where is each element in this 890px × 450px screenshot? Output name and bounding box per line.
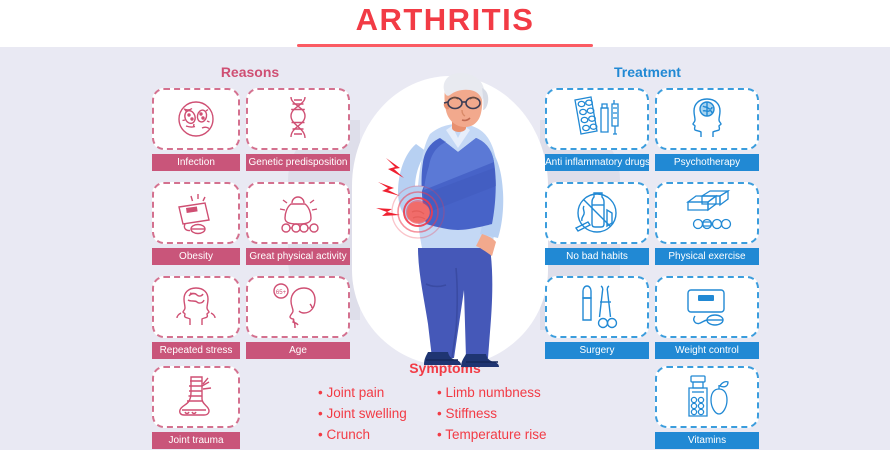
no-smoking-alcohol-icon (570, 188, 624, 238)
pain-spot (406, 200, 430, 224)
card-icon-frame (545, 182, 649, 244)
scalpel-scissors-icon (575, 282, 619, 332)
card-icon-frame (545, 88, 649, 150)
symptom-item: Joint pain (318, 382, 407, 403)
reason-card-great-physical-activity[interactable]: Great physical activity (246, 182, 350, 265)
reasons-heading: Reasons (145, 64, 355, 80)
card-label: Psychotherapy (655, 154, 759, 171)
card-icon-frame (246, 182, 350, 244)
title-underline (297, 44, 593, 47)
card-label: Anti inflammatory drugs (545, 154, 649, 171)
bacteria-icon (172, 95, 220, 143)
card-label: Infection (152, 154, 240, 171)
treatment-heading: Treatment (540, 64, 755, 80)
treatment-card-no-bad-habits[interactable]: No bad habits (545, 182, 649, 265)
reason-card-age[interactable]: 65+ Age (246, 276, 350, 359)
symptoms-column-right: Limb numbness Stiffness Temperature rise (437, 382, 547, 445)
scale-tape-icon (680, 284, 734, 330)
treatment-card-psychotherapy[interactable]: Psychotherapy (655, 88, 759, 171)
svg-text:65+: 65+ (276, 290, 287, 296)
head-brain-icon (683, 94, 731, 144)
symptom-item: Temperature rise (437, 424, 547, 445)
step-platform-dumbbell-icon (680, 190, 734, 236)
treatment-card-anti-inflammatory-drugs[interactable]: Anti inflammatory drugs (545, 88, 649, 171)
weight-scale-icon (171, 189, 221, 237)
pills-syringe-icon (568, 94, 626, 144)
card-label: Surgery (545, 342, 649, 359)
elderly-man-illustration (356, 72, 546, 372)
card-label: Great physical activity (246, 248, 350, 265)
kettlebell-dumbbell-icon (271, 190, 325, 236)
treatment-card-weight-control[interactable]: Weight control (655, 276, 759, 359)
card-icon-frame: 65+ (246, 276, 350, 338)
card-icon-frame (545, 276, 649, 338)
reason-card-genetic-predisposition[interactable]: Genetic predisposition (246, 88, 350, 171)
treatment-card-surgery[interactable]: Surgery (545, 276, 649, 359)
reason-card-infection[interactable]: Infection (152, 88, 240, 171)
vitamin-bottle-apple-icon (680, 373, 734, 421)
card-label: Vitamins (655, 432, 759, 449)
card-icon-frame (655, 366, 759, 428)
card-icon-frame (152, 88, 240, 150)
dna-icon (281, 94, 315, 144)
card-icon-frame (152, 276, 240, 338)
symptom-item: Limb numbness (437, 382, 547, 403)
bandaged-foot-icon (173, 372, 219, 422)
card-label: No bad habits (545, 248, 649, 265)
card-label: Genetic predisposition (246, 154, 350, 171)
card-label: Physical exercise (655, 248, 759, 265)
symptoms-column-left: Joint pain Joint swelling Crunch (318, 382, 407, 445)
symptom-item: Stiffness (437, 403, 547, 424)
card-label: Joint trauma (152, 432, 240, 449)
elderly-profile-icon: 65+ (270, 282, 326, 332)
reason-card-joint-trauma[interactable]: Joint trauma (152, 366, 240, 449)
page-title: ARTHRITIS (0, 2, 890, 38)
card-label: Obesity (152, 248, 240, 265)
card-icon-frame (655, 276, 759, 338)
symptom-item: Joint swelling (318, 403, 407, 424)
head-stress-icon (173, 283, 219, 331)
card-icon-frame (152, 182, 240, 244)
card-label: Weight control (655, 342, 759, 359)
card-icon-frame (655, 88, 759, 150)
card-icon-frame (655, 182, 759, 244)
treatment-card-physical-exercise[interactable]: Physical exercise (655, 182, 759, 265)
symptom-item: Crunch (318, 424, 407, 445)
card-label: Repeated stress (152, 342, 240, 359)
card-icon-frame (152, 366, 240, 428)
card-label: Age (246, 342, 350, 359)
reason-card-repeated-stress[interactable]: Repeated stress (152, 276, 240, 359)
treatment-card-vitamins[interactable]: Vitamins (655, 366, 759, 449)
reason-card-obesity[interactable]: Obesity (152, 182, 240, 265)
card-icon-frame (246, 88, 350, 150)
